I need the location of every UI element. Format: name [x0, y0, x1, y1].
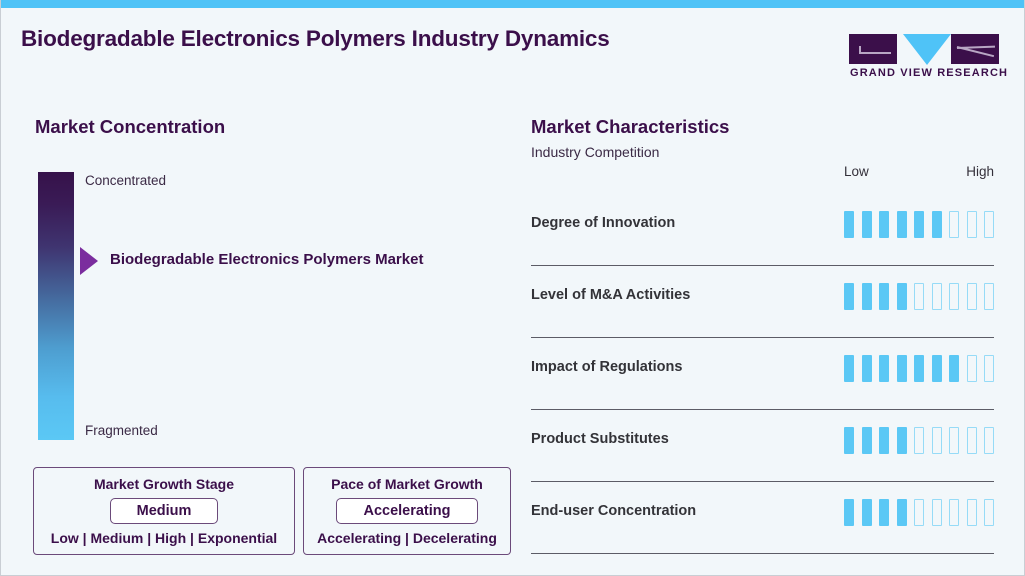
- rating-segment-empty: [967, 355, 977, 382]
- rating-segment-empty: [967, 427, 977, 454]
- characteristic-label: Level of M&A Activities: [531, 287, 690, 303]
- rating-segment-filled: [844, 499, 854, 526]
- characteristic-rating-bars: [844, 283, 994, 310]
- rating-segment-empty: [949, 427, 959, 454]
- brand-logo: GRAND VIEW RESEARCH: [849, 28, 999, 64]
- market-characteristics-title: Market Characteristics: [531, 116, 729, 138]
- rating-segment-empty: [984, 283, 994, 310]
- rating-segment-filled: [932, 211, 942, 238]
- rating-segment-filled: [844, 211, 854, 238]
- characteristic-label: Impact of Regulations: [531, 359, 682, 375]
- rating-segment-empty: [984, 211, 994, 238]
- scale-axis-labels: Low High: [844, 164, 994, 179]
- growth-stage-value: Medium: [110, 498, 219, 524]
- rating-segment-empty: [984, 355, 994, 382]
- rating-segment-empty: [932, 283, 942, 310]
- rating-segment-filled: [949, 355, 959, 382]
- rating-segment-filled: [862, 355, 872, 382]
- rating-segment-empty: [914, 499, 924, 526]
- pace-of-market-growth-box: Pace of Market Growth Accelerating Accel…: [303, 467, 511, 555]
- page-title: Biodegradable Electronics Polymers Indus…: [21, 26, 610, 52]
- rating-segment-filled: [862, 283, 872, 310]
- logo-right-block-icon: [951, 34, 999, 64]
- growth-pace-value-wrap: Accelerating: [304, 498, 510, 524]
- growth-pace-value: Accelerating: [336, 498, 477, 524]
- rating-segment-filled: [879, 211, 889, 238]
- growth-stage-options: Low | Medium | High | Exponential: [34, 530, 294, 546]
- logo-right-line2-icon: [957, 46, 995, 49]
- top-accent-bar: [1, 0, 1024, 8]
- rating-segment-filled: [897, 355, 907, 382]
- logo-wordmark: GRAND VIEW RESEARCH: [850, 67, 1008, 79]
- rating-segment-empty: [967, 283, 977, 310]
- rating-segment-empty: [932, 499, 942, 526]
- rating-segment-filled: [879, 427, 889, 454]
- market-concentration-title: Market Concentration: [35, 116, 225, 138]
- rating-segment-filled: [862, 499, 872, 526]
- characteristic-label: Product Substitutes: [531, 431, 669, 447]
- market-characteristics-panel: Market Characteristics Industry Competit…: [511, 90, 1025, 576]
- market-concentration-panel: Market Concentration Concentrated Fragme…: [1, 90, 511, 576]
- characteristic-rating-bars: [844, 355, 994, 382]
- characteristics-rows: Degree of InnovationLevel of M&A Activit…: [511, 194, 1025, 554]
- rating-segment-filled: [897, 427, 907, 454]
- rating-segment-empty: [932, 427, 942, 454]
- rating-segment-filled: [914, 355, 924, 382]
- characteristic-row: Product Substitutes: [511, 410, 1025, 482]
- scale-axis-low-label: Low: [844, 164, 869, 179]
- characteristic-row: Level of M&A Activities: [511, 266, 1025, 338]
- market-characteristics-subtitle: Industry Competition: [531, 144, 659, 160]
- rating-segment-empty: [984, 427, 994, 454]
- characteristic-rating-bars: [844, 499, 994, 526]
- logo-marks: [849, 28, 999, 64]
- characteristic-rating-bars: [844, 427, 994, 454]
- rating-segment-filled: [844, 355, 854, 382]
- scale-label-fragmented: Fragmented: [85, 423, 158, 438]
- characteristic-row: End-user Concentration: [511, 482, 1025, 554]
- rating-segment-filled: [862, 211, 872, 238]
- rating-segment-filled: [879, 499, 889, 526]
- characteristic-label: Degree of Innovation: [531, 215, 675, 231]
- growth-pace-options: Accelerating | Decelerating: [304, 530, 510, 546]
- rating-segment-empty: [967, 211, 977, 238]
- rating-segment-filled: [897, 211, 907, 238]
- card-header: Biodegradable Electronics Polymers Indus…: [1, 8, 1024, 90]
- characteristic-label: End-user Concentration: [531, 503, 696, 519]
- characteristic-row: Degree of Innovation: [511, 194, 1025, 266]
- market-growth-stage-box: Market Growth Stage Medium Low | Medium …: [33, 467, 295, 555]
- rating-segment-filled: [897, 283, 907, 310]
- rating-segment-empty: [914, 283, 924, 310]
- industry-dynamics-card: Biodegradable Electronics Polymers Indus…: [0, 0, 1025, 576]
- row-divider: [531, 553, 994, 554]
- characteristic-rating-bars: [844, 211, 994, 238]
- scale-axis-high-label: High: [966, 164, 994, 179]
- marker-label: Biodegradable Electronics Polymers Marke…: [110, 251, 423, 268]
- rating-segment-filled: [879, 355, 889, 382]
- rating-segment-filled: [914, 211, 924, 238]
- characteristic-row: Impact of Regulations: [511, 338, 1025, 410]
- growth-pace-heading: Pace of Market Growth: [304, 476, 510, 492]
- rating-segment-filled: [862, 427, 872, 454]
- rating-segment-empty: [949, 499, 959, 526]
- logo-left-block-icon: [849, 34, 897, 64]
- logo-left-line-icon: [859, 52, 891, 54]
- logo-triangle-icon: [903, 34, 951, 65]
- rating-segment-filled: [897, 499, 907, 526]
- growth-stage-heading: Market Growth Stage: [34, 476, 294, 492]
- rating-segment-filled: [844, 427, 854, 454]
- logo-left-tick-icon: [859, 46, 861, 54]
- scale-label-concentrated: Concentrated: [85, 173, 166, 188]
- rating-segment-empty: [949, 283, 959, 310]
- rating-segment-empty: [967, 499, 977, 526]
- growth-stage-value-wrap: Medium: [34, 498, 294, 524]
- rating-segment-empty: [949, 211, 959, 238]
- rating-segment-empty: [914, 427, 924, 454]
- rating-segment-filled: [844, 283, 854, 310]
- rating-segment-filled: [879, 283, 889, 310]
- rating-segment-filled: [932, 355, 942, 382]
- marker-arrow-icon: [80, 247, 98, 275]
- concentration-gradient-scale: [38, 172, 74, 440]
- rating-segment-empty: [984, 499, 994, 526]
